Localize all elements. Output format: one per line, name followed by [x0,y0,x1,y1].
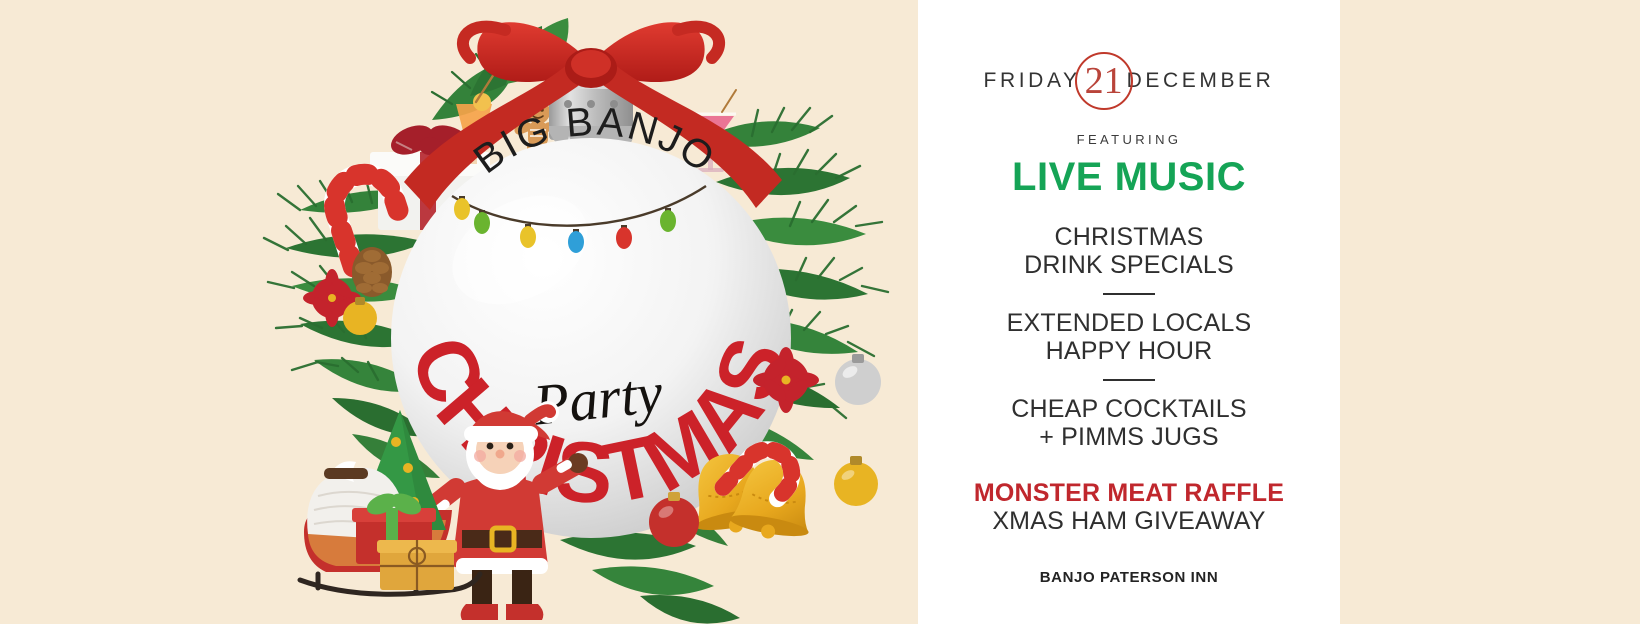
offer-block-drinks: CHRISTMAS DRINK SPECIALS [1024,223,1234,279]
pinecone [352,247,392,297]
divider [1103,293,1155,295]
offer-line: DRINK SPECIALS [1024,251,1234,279]
date-day-circle: 21 [1075,52,1133,110]
divider [1103,379,1155,381]
artwork-illustration: BIG BANJO CHRISTMAS Party [0,0,918,624]
offer-line: CHRISTMAS [1024,223,1234,251]
event-info-panel: FRIDAY 21 DECEMBER FEATURING LIVE MUSIC … [918,0,1340,624]
date-weekday: FRIDAY [984,69,1081,93]
offer-line: CHEAP COCKTAILS [1011,395,1246,423]
offer-block-cocktails: CHEAP COCKTAILS + PIMMS JUGS [1011,395,1246,451]
offer-line: EXTENDED LOCALS [1007,309,1252,337]
offer-line: HAPPY HOUR [1007,337,1252,365]
ornament-line3: Party [529,360,665,438]
date-month: DECEMBER [1127,69,1275,93]
featuring-label: FEATURING [1077,132,1182,147]
christmas-party-banner: BIG BANJO CHRISTMAS Party [0,0,1640,624]
headline-live-music: LIVE MUSIC [1012,157,1246,197]
gift-box-gold [377,540,457,590]
offer-block-happy-hour: EXTENDED LOCALS HAPPY HOUR [1007,309,1252,365]
raffle-headline: MONSTER MEAT RAFFLE [974,479,1284,507]
date-day: 21 [1085,62,1123,100]
raffle-subline: XMAS HAM GIVEAWAY [974,507,1284,535]
offer-line: + PIMMS JUGS [1011,423,1246,451]
event-date: FRIDAY 21 DECEMBER [984,52,1275,110]
raffle-block: MONSTER MEAT RAFFLE XMAS HAM GIVEAWAY [974,479,1284,535]
venue-name: BANJO PATERSON INN [1040,569,1219,586]
